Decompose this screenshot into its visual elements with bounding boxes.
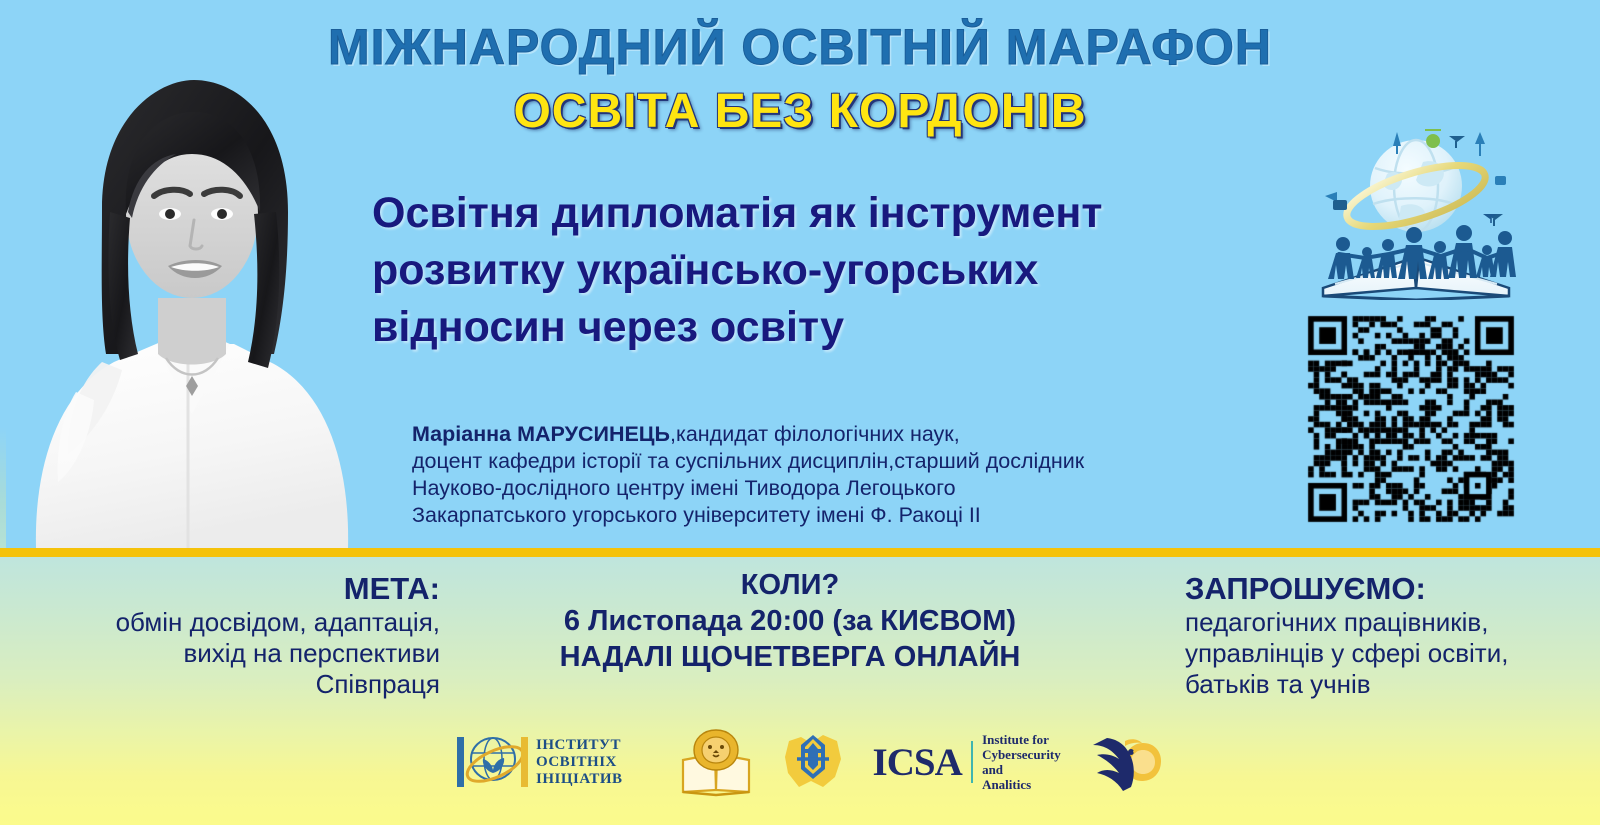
- column-when-title: КОЛИ?: [470, 567, 1110, 603]
- talk-title-line-1: Освітня дипломатія як інструмент: [372, 185, 1312, 242]
- column-goal-body: обмін досвідом, адаптація, вихід на перс…: [10, 607, 440, 700]
- column-when-line-2: НАДАЛІ ЩОЧЕТВЕРГА ОНЛАЙН: [470, 639, 1110, 675]
- column-when-line-1: 6 Листопада 20:00 (за КИЄВОМ): [470, 603, 1110, 639]
- partner-logos-row: ІНСТИТУТ ОСВІТНІХ ІНІЦІАТИВ: [455, 717, 1145, 807]
- event-promo-banner: МІЖНАРОДНИЙ ОСВІТНІЙ МАРАФОН ОСВІТА БЕЗ …: [0, 0, 1600, 825]
- top-section: МІЖНАРОДНИЙ ОСВІТНІЙ МАРАФОН ОСВІТА БЕЗ …: [0, 0, 1600, 548]
- talk-title-line-3: відносин через освіту: [372, 299, 1312, 356]
- institute-logo-line-1: ІНСТИТУТ: [536, 737, 623, 754]
- column-invite-title: ЗАПРОШУЄМО:: [1185, 571, 1595, 607]
- icsa-tagline-line-2: Cybersecurity and: [982, 747, 1061, 777]
- column-goal-line-2: вихід на перспективи: [10, 638, 440, 669]
- icsa-tagline-line-1: Institute for: [982, 732, 1061, 747]
- talk-title: Освітня дипломатія як інструмент розвитк…: [372, 185, 1312, 356]
- column-goal-title: МЕТА:: [10, 571, 440, 607]
- speaker-credentials: Маріанна МАРУСИНЕЦЬ,кандидат філологічни…: [412, 421, 1292, 529]
- bottom-section: МЕТА: обмін досвідом, адаптація, вихід н…: [0, 557, 1600, 825]
- speaker-credential-3: Науково-дослідного центру імені Тиводора…: [412, 475, 1292, 502]
- column-invite-line-1: педагогічних працівників,: [1185, 607, 1595, 638]
- trident-ukraine-logo: [779, 729, 847, 795]
- column-goal-line-3: Співпраця: [10, 669, 440, 700]
- icsa-acronym: ICSA: [873, 743, 962, 782]
- gold-divider: [0, 548, 1600, 557]
- column-goal-line-1: обмін досвідом, адаптація,: [10, 607, 440, 638]
- talk-title-line-2: розвитку українсько-угорських: [372, 242, 1312, 299]
- lion-book-logo: [679, 726, 753, 798]
- speaker-line-1: Маріанна МАРУСИНЕЦЬ,кандидат філологічни…: [412, 421, 1292, 448]
- column-when-body: 6 Листопада 20:00 (за КИЄВОМ) НАДАЛІ ЩОЧ…: [470, 603, 1110, 675]
- column-invite-line-3: батьків та учнів: [1185, 669, 1595, 700]
- column-goal: МЕТА: обмін досвідом, адаптація, вихід н…: [10, 571, 440, 700]
- speaker-credential-4: Закарпатського угорського університету і…: [412, 502, 1292, 529]
- icsa-separator: [971, 741, 973, 783]
- headline: МІЖНАРОДНИЙ ОСВІТНІЙ МАРАФОН: [0, 18, 1600, 76]
- icsa-logo: ICSA Institute for Cybersecurity and Ana…: [873, 732, 1062, 792]
- institute-of-educational-initiatives-logo: ІНСТИТУТ ОСВІТНІХ ІНІЦІАТИВ: [455, 729, 623, 795]
- speaker-credential-2: доцент кафедри історії та суспільних дис…: [412, 448, 1292, 475]
- institute-logo-line-3: ІНІЦІАТИВ: [536, 771, 623, 788]
- column-when: КОЛИ? 6 Листопада 20:00 (за КИЄВОМ) НАДА…: [470, 567, 1110, 675]
- column-invite-body: педагогічних працівників, управлінців у …: [1185, 607, 1595, 700]
- icsa-tagline-line-3: Analitics: [982, 777, 1061, 792]
- institute-logo-line-2: ОСВІТНІХ: [536, 754, 623, 771]
- speaker-name: Маріанна МАРУСИНЕЦЬ: [412, 422, 670, 446]
- speaker-credential-1: ,кандидат філологічних наук,: [670, 422, 960, 446]
- column-invite: ЗАПРОШУЄМО: педагогічних працівників, уп…: [1185, 571, 1595, 700]
- qr-code-icon[interactable]: [1297, 305, 1525, 533]
- eagle-lion-logo: [1091, 729, 1163, 795]
- column-invite-line-2: управлінців у сфері освіти,: [1185, 638, 1595, 669]
- globe-book-people-icon: [1305, 118, 1527, 300]
